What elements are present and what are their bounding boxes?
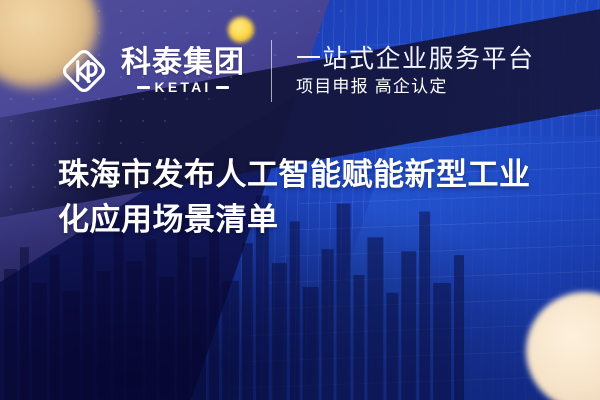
brand-wordmark: 科泰集团 KETAI xyxy=(121,48,245,94)
brand-logo-lockup[interactable]: 科泰集团 KETAI xyxy=(58,45,245,97)
tagline-primary: 一站式企业服务平台 xyxy=(296,47,535,72)
tagline-block: 一站式企业服务平台 项目申报 高企认定 xyxy=(296,47,535,95)
ketai-kp-diamond-logo-icon xyxy=(58,45,110,97)
dash-left-icon xyxy=(137,86,150,89)
brand-name-cn: 科泰集团 xyxy=(121,48,245,78)
promo-banner: 科泰集团 KETAI 一站式企业服务平台 项目申报 高企认定 珠海市发布人工智能… xyxy=(0,0,600,400)
dash-right-icon xyxy=(216,86,229,89)
banner-header: 科泰集团 KETAI 一站式企业服务平台 项目申报 高企认定 xyxy=(58,40,535,102)
brand-name-en-row: KETAI xyxy=(121,80,245,94)
brand-name-en: KETAI xyxy=(155,80,212,94)
tagline-secondary: 项目申报 高企认定 xyxy=(296,78,535,95)
header-vertical-divider xyxy=(271,40,272,102)
banner-headline: 珠海市发布人工智能赋能新型工业化应用场景清单 xyxy=(58,152,550,243)
